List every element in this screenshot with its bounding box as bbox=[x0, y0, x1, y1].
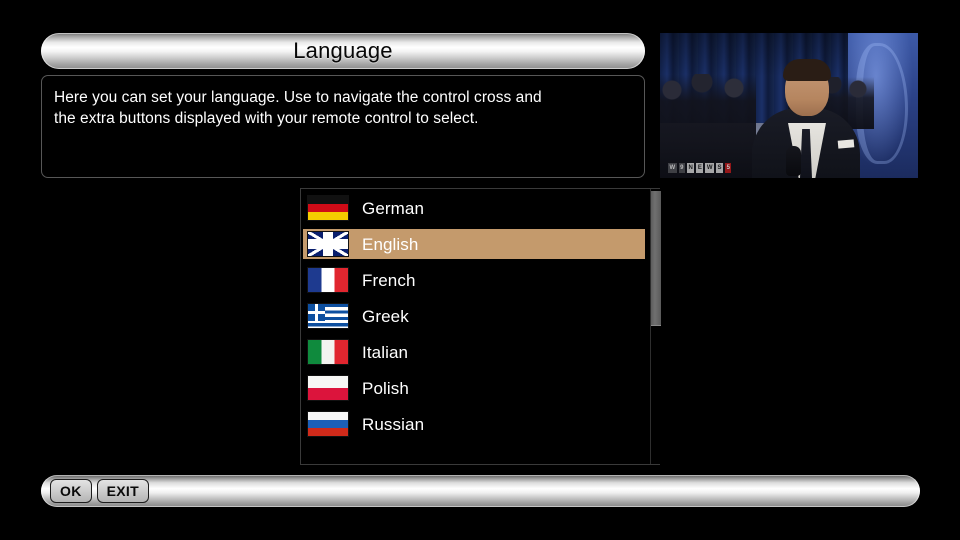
help-description-box: Here you can set your language. Use to n… bbox=[41, 75, 645, 178]
scrollbar-thumb[interactable] bbox=[651, 191, 661, 326]
title-bar: Language bbox=[41, 33, 645, 69]
flag-poland-icon bbox=[307, 375, 349, 401]
watermark-char: E bbox=[696, 163, 703, 173]
bottom-button-bar: OK EXIT bbox=[41, 475, 920, 507]
help-description-text: Here you can set your language. Use to n… bbox=[54, 88, 630, 129]
page-title: Language bbox=[293, 40, 392, 62]
language-list-item[interactable]: Italian bbox=[303, 337, 643, 367]
language-list-item[interactable]: Polish bbox=[303, 373, 643, 403]
language-list-item[interactable]: Greek bbox=[303, 301, 643, 331]
language-list-item-label: Greek bbox=[362, 308, 409, 325]
watermark-char: 9 bbox=[679, 163, 685, 173]
ok-button[interactable]: OK bbox=[50, 479, 92, 503]
watermark-char: N bbox=[687, 163, 694, 173]
language-list-item[interactable]: English bbox=[303, 229, 645, 259]
flag-russia-icon bbox=[307, 411, 349, 437]
language-list-item-label: Russian bbox=[362, 416, 424, 433]
video-microphone bbox=[786, 146, 801, 176]
language-list-item[interactable]: German bbox=[303, 193, 643, 223]
flag-united-kingdom-icon bbox=[307, 231, 349, 257]
watermark-char: 5 bbox=[725, 163, 731, 173]
language-list-item-label: Polish bbox=[362, 380, 409, 397]
video-channel-watermark: W 9 N E W S 5 bbox=[668, 163, 731, 173]
video-reporter-hair bbox=[783, 59, 831, 81]
flag-greece-icon bbox=[307, 303, 349, 329]
language-list-item[interactable]: French bbox=[303, 265, 643, 295]
language-list-item-label: French bbox=[362, 272, 416, 289]
tv-settings-screen: Language Here you can set your language.… bbox=[0, 0, 960, 540]
language-list-item-label: German bbox=[362, 200, 424, 217]
video-preview[interactable]: W 9 N E W S 5 bbox=[660, 33, 918, 178]
watermark-char: S bbox=[716, 163, 723, 173]
exit-button[interactable]: EXIT bbox=[97, 479, 149, 503]
watermark-char: W bbox=[668, 163, 677, 173]
flag-france-icon bbox=[307, 267, 349, 293]
language-list: GermanEnglishFrenchGreekItalianPolishRus… bbox=[303, 193, 643, 445]
language-list-panel: GermanEnglishFrenchGreekItalianPolishRus… bbox=[300, 188, 660, 465]
list-scrollbar[interactable] bbox=[650, 189, 661, 464]
flag-italy-icon bbox=[307, 339, 349, 365]
language-list-item-label: Italian bbox=[362, 344, 408, 361]
flag-germany-icon bbox=[307, 195, 349, 221]
language-list-item-label: English bbox=[362, 236, 418, 253]
watermark-char: W bbox=[705, 163, 714, 173]
language-list-item[interactable]: Russian bbox=[303, 409, 643, 439]
